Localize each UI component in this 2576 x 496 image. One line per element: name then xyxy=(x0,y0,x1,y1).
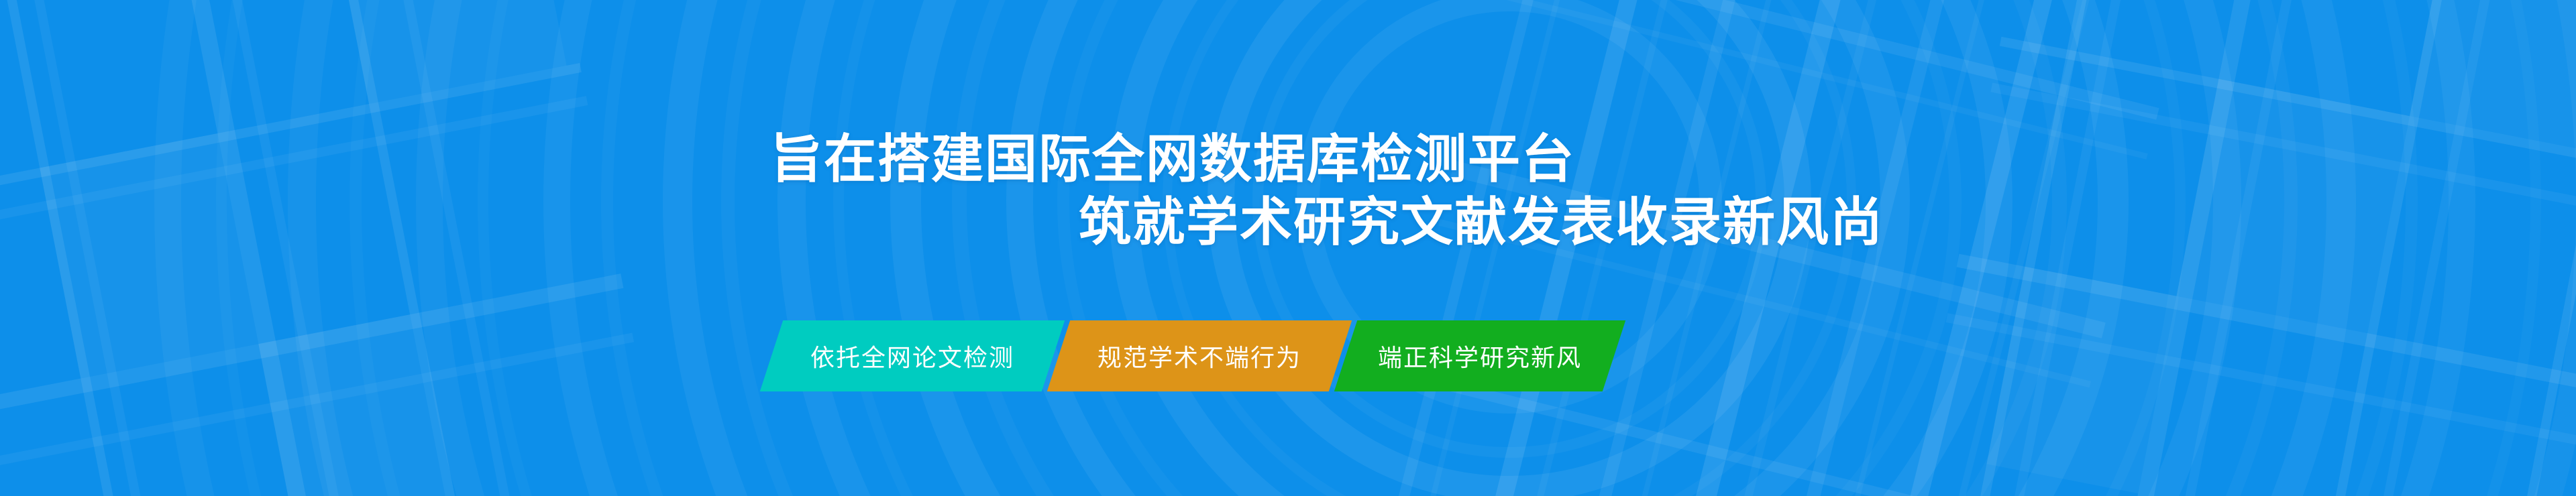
tag-plagiarism-detection[interactable]: 依托全网论文检测 xyxy=(760,320,1065,391)
feature-tag-group: 依托全网论文检测 规范学术不端行为 端正科学研究新风 xyxy=(771,320,1818,391)
headline-line-1: 旨在搭建国际全网数据库检测平台 xyxy=(770,133,1575,185)
headline-line-2: 筑就学术研究文献发表收录新风尚 xyxy=(1079,196,1884,248)
tag-plagiarism-detection-label: 依托全网论文检测 xyxy=(810,338,1014,373)
tag-research-ethics-label: 端正科学研究新风 xyxy=(1378,338,1582,373)
headline-block: 旨在搭建国际全网数据库检测平台 筑就学术研究文献发表收录新风尚 xyxy=(0,0,2576,496)
tag-academic-misconduct[interactable]: 规范学术不端行为 xyxy=(1047,320,1352,391)
tag-research-ethics[interactable]: 端正科学研究新风 xyxy=(1334,320,1625,391)
promo-banner: 旨在搭建国际全网数据库检测平台 筑就学术研究文献发表收录新风尚 依托全网论文检测… xyxy=(0,0,2576,496)
tag-academic-misconduct-label: 规范学术不端行为 xyxy=(1097,338,1301,373)
